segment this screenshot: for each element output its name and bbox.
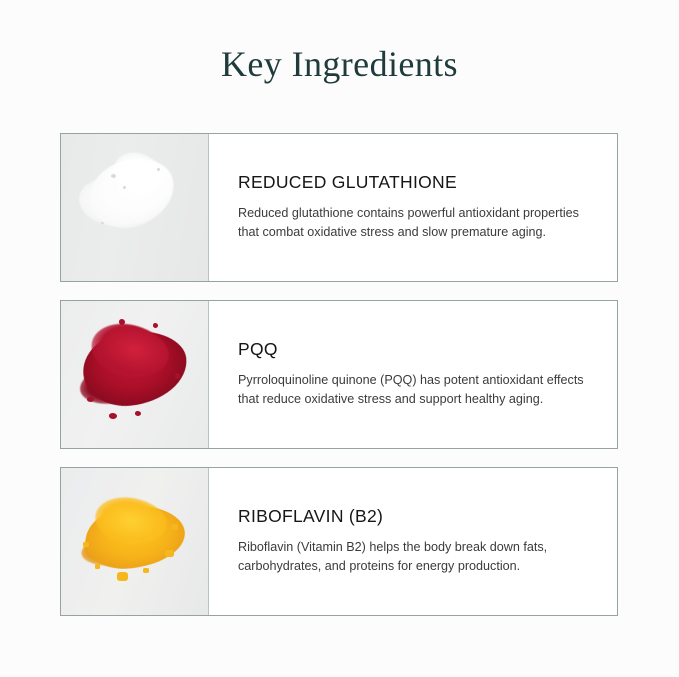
ingredient-heading: RIBOFLAVIN (B2) bbox=[238, 506, 593, 526]
powder-fleck bbox=[83, 542, 89, 547]
powder-fleck bbox=[143, 568, 149, 573]
ingredients-page: Key Ingredients REDUCED GLUTATHIONE Redu… bbox=[0, 0, 679, 677]
powder-fleck bbox=[153, 323, 158, 328]
powder-fleck bbox=[135, 411, 141, 416]
ingredient-card: PQQ Pyrroloquinoline quinone (PQQ) has p… bbox=[60, 300, 618, 449]
ingredient-card: REDUCED GLUTATHIONE Reduced glutathione … bbox=[60, 133, 618, 282]
ingredient-image-pqq bbox=[61, 301, 209, 448]
ingredient-description: Reduced glutathione contains powerful an… bbox=[238, 204, 593, 243]
ingredient-image-reduced-glutathione bbox=[61, 134, 209, 281]
ingredient-text: REDUCED GLUTATHIONE Reduced glutathione … bbox=[209, 134, 617, 281]
ingredient-card: RIBOFLAVIN (B2) Riboflavin (Vitamin B2) … bbox=[60, 467, 618, 616]
powder-fleck bbox=[165, 550, 174, 557]
powder-illustration bbox=[61, 468, 208, 615]
powder-speck bbox=[157, 168, 160, 171]
powder-speck bbox=[123, 186, 126, 189]
powder-fleck bbox=[109, 413, 117, 419]
powder-speck bbox=[111, 174, 116, 178]
ingredient-heading: REDUCED GLUTATHIONE bbox=[238, 172, 593, 192]
page-title: Key Ingredients bbox=[0, 45, 679, 85]
ingredient-text: PQQ Pyrroloquinoline quinone (PQQ) has p… bbox=[209, 301, 617, 448]
powder-fleck bbox=[119, 319, 125, 325]
powder-fleck bbox=[171, 524, 178, 530]
ingredient-description: Pyrroloquinoline quinone (PQQ) has poten… bbox=[238, 371, 593, 410]
powder-fleck bbox=[175, 373, 180, 379]
powder-illustration bbox=[61, 134, 208, 281]
ingredient-card-list: REDUCED GLUTATHIONE Reduced glutathione … bbox=[60, 133, 618, 634]
powder-fleck bbox=[117, 572, 128, 581]
powder-fleck bbox=[95, 564, 100, 569]
ingredient-text: RIBOFLAVIN (B2) Riboflavin (Vitamin B2) … bbox=[209, 468, 617, 615]
powder-speck bbox=[101, 222, 104, 224]
powder-illustration bbox=[61, 301, 208, 448]
ingredient-image-riboflavin bbox=[61, 468, 209, 615]
ingredient-heading: PQQ bbox=[238, 339, 593, 359]
powder-fleck bbox=[87, 397, 94, 402]
ingredient-description: Riboflavin (Vitamin B2) helps the body b… bbox=[238, 538, 593, 577]
